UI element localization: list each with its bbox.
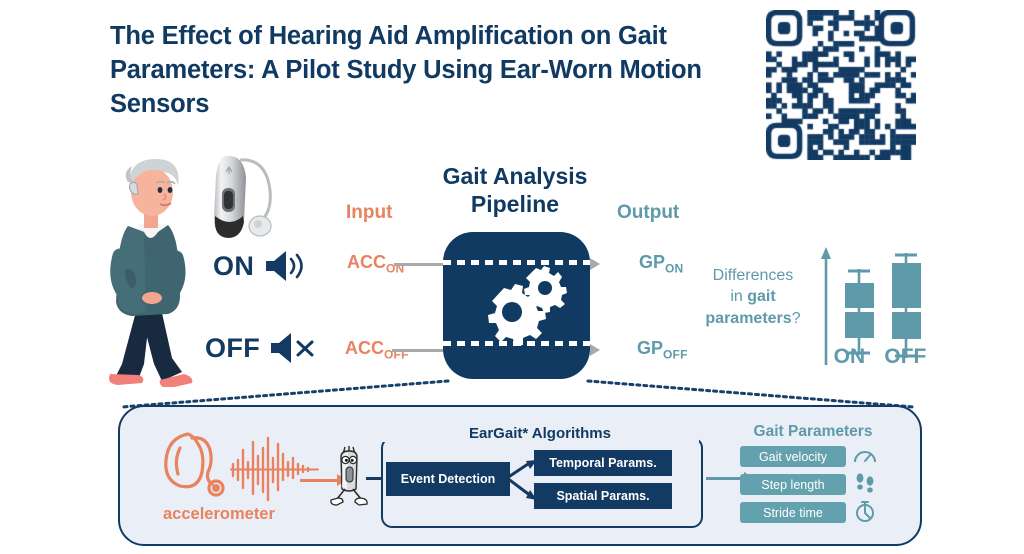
speaker-on-icon <box>262 248 308 284</box>
pill-gait-velocity[interactable]: Gait velocity <box>740 446 846 467</box>
pipeline-dash-top <box>443 260 590 265</box>
qr-code-icon <box>766 10 916 160</box>
hearing-aid-photo <box>196 146 288 246</box>
page-title: The Effect of Hearing Aid Amplification … <box>110 20 750 122</box>
stopwatch-icon <box>852 500 878 522</box>
qr-code[interactable] <box>766 10 916 160</box>
input-label: Input <box>346 202 392 224</box>
output-gp-on: GPON <box>639 252 683 276</box>
accelerometer-waveform-icon <box>230 436 322 502</box>
gp-on-sub: ON <box>665 262 683 276</box>
gait-parameters-title: Gait Parameters <box>738 423 888 441</box>
pipeline-title: Gait Analysis Pipeline <box>410 163 620 218</box>
condition-on: ON <box>213 248 308 284</box>
pill-stride-time[interactable]: Stride time <box>740 502 846 523</box>
block-temporal-params[interactable]: Temporal Params. <box>534 450 672 476</box>
accelerometer-label: accelerometer <box>163 505 275 524</box>
pipeline-title-line1: Gait Analysis <box>443 163 588 189</box>
output-label: Output <box>617 202 679 224</box>
branch-arrows <box>505 448 543 512</box>
question-line3-bold: parameters <box>705 310 791 327</box>
question-line1: Differences <box>713 267 794 284</box>
pipeline-title-line2: Pipeline <box>471 191 559 217</box>
block-event-detection[interactable]: Event Detection <box>386 462 510 496</box>
box-off <box>892 253 921 358</box>
gp-on-base: GP <box>639 252 665 272</box>
eargait-title: EarGait* Algorithms <box>381 425 699 442</box>
block-spatial-params[interactable]: Spatial Params. <box>534 483 672 509</box>
hearing-aid-outline-icon <box>158 428 236 500</box>
speedometer-icon <box>852 445 878 467</box>
footprints-icon <box>852 472 878 494</box>
arrowhead-on <box>590 258 600 270</box>
question-line2-prefix: in <box>730 288 747 305</box>
question-line3-suffix: ? <box>792 310 801 327</box>
box-on <box>845 269 874 355</box>
question-line2-bold: gait <box>747 288 775 305</box>
elderly-person-illustration <box>98 152 208 387</box>
differences-question: Differences in gait parameters? <box>694 265 812 329</box>
pill-step-length[interactable]: Step length <box>740 474 846 495</box>
acc-on-base: ACC <box>347 252 386 272</box>
condition-on-label: ON <box>213 251 254 282</box>
sensor-mascot-icon <box>328 445 370 507</box>
gears-icon <box>467 266 567 350</box>
